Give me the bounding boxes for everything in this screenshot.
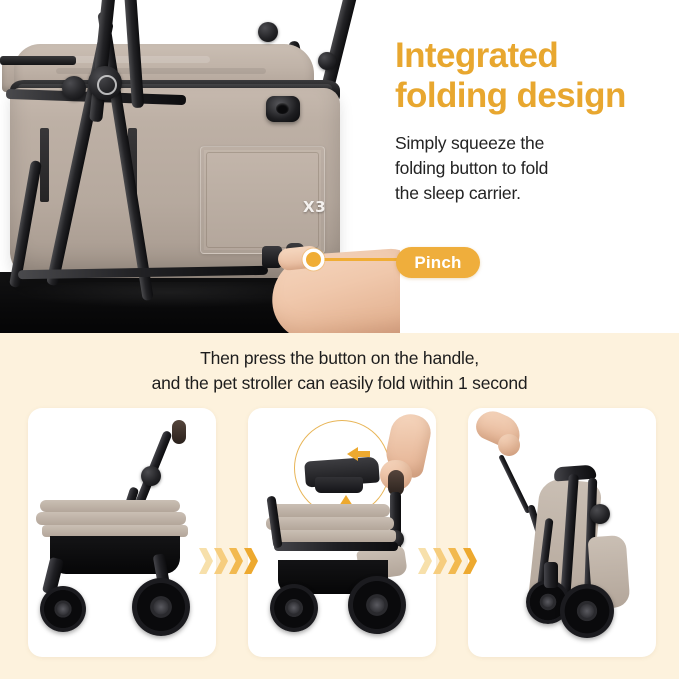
hero-title-line-1: Integrated xyxy=(395,36,667,76)
frame-joint-hub xyxy=(141,466,161,486)
callout-marker-dot xyxy=(306,252,321,267)
product-logo: X3 xyxy=(303,198,326,216)
hero-text-block: Integrated folding design Simply squeeze… xyxy=(395,36,667,207)
steps-caption: Then press the button on the handle, and… xyxy=(0,346,679,396)
extended-pull-handle xyxy=(498,454,531,514)
fabric-fold-line xyxy=(56,68,266,74)
hero-subtitle: Simply squeeze the folding button to fol… xyxy=(395,131,667,207)
wheel-mount xyxy=(544,562,558,588)
step-panel-2 xyxy=(248,408,436,657)
carrier-release-button[interactable] xyxy=(266,96,300,122)
pinch-callout-badge: Pinch xyxy=(396,247,480,278)
hero-title-line-2: folding design xyxy=(395,76,667,116)
steps-caption-line-2: and the pet stroller can easily fold wit… xyxy=(0,371,679,396)
chevron-right-icon xyxy=(418,548,432,574)
progress-arrows-2-to-3 xyxy=(418,544,480,578)
frame-seat-bar xyxy=(274,542,398,551)
chevron-right-icon xyxy=(448,548,462,574)
steps-caption-line-1: Then press the button on the handle, xyxy=(0,346,679,371)
wheel-front xyxy=(270,584,318,632)
hero-title: Integrated folding design xyxy=(395,36,667,115)
frame-joint-hub xyxy=(318,52,336,70)
frame-tube-tray-bar xyxy=(0,56,76,65)
folded-fabric-layer xyxy=(270,504,390,517)
chevron-right-icon xyxy=(463,548,477,574)
frame-joint-hub xyxy=(62,76,86,100)
handle-button-detail-inset xyxy=(294,420,390,516)
arrow-left-icon xyxy=(347,447,358,461)
folded-fabric-layer xyxy=(266,517,394,530)
folded-fabric-layer xyxy=(272,530,396,542)
hero-subtitle-line-3: the sleep carrier. xyxy=(395,181,667,206)
frame-joint-hub xyxy=(590,504,610,524)
chevron-right-icon xyxy=(199,548,213,574)
chevron-right-icon xyxy=(433,548,447,574)
step-panel-3 xyxy=(468,408,656,657)
folded-fabric-layer xyxy=(36,512,186,525)
callout-connector-line xyxy=(320,258,403,261)
progress-arrows-1-to-2 xyxy=(199,544,261,578)
chevron-right-icon xyxy=(214,548,228,574)
hero-subtitle-line-2: folding button to fold xyxy=(395,156,667,181)
chevron-right-icon xyxy=(244,548,258,574)
wheel-rear xyxy=(132,578,190,636)
wheel-right xyxy=(560,584,614,638)
pinch-callout-label: Pinch xyxy=(414,253,461,273)
step-panel-1 xyxy=(28,408,216,657)
hero-subtitle-line-1: Simply squeeze the xyxy=(395,131,667,156)
step-panels xyxy=(28,408,656,657)
fingers xyxy=(498,434,520,456)
frame-joint-hub xyxy=(258,22,278,42)
folded-fabric-layer xyxy=(40,500,180,512)
hero-section: X3 Pinch Integrated folding design Simp xyxy=(0,0,679,334)
wheel-rear xyxy=(348,576,406,634)
chevron-right-icon xyxy=(229,548,243,574)
handle-detail-lower xyxy=(315,477,363,493)
product-photo-stage: X3 xyxy=(0,0,400,334)
frame-logo-hub xyxy=(88,66,122,100)
steps-section: Then press the button on the handle, and… xyxy=(0,333,679,679)
handle-grip xyxy=(172,420,186,444)
wheel-front xyxy=(40,586,86,632)
